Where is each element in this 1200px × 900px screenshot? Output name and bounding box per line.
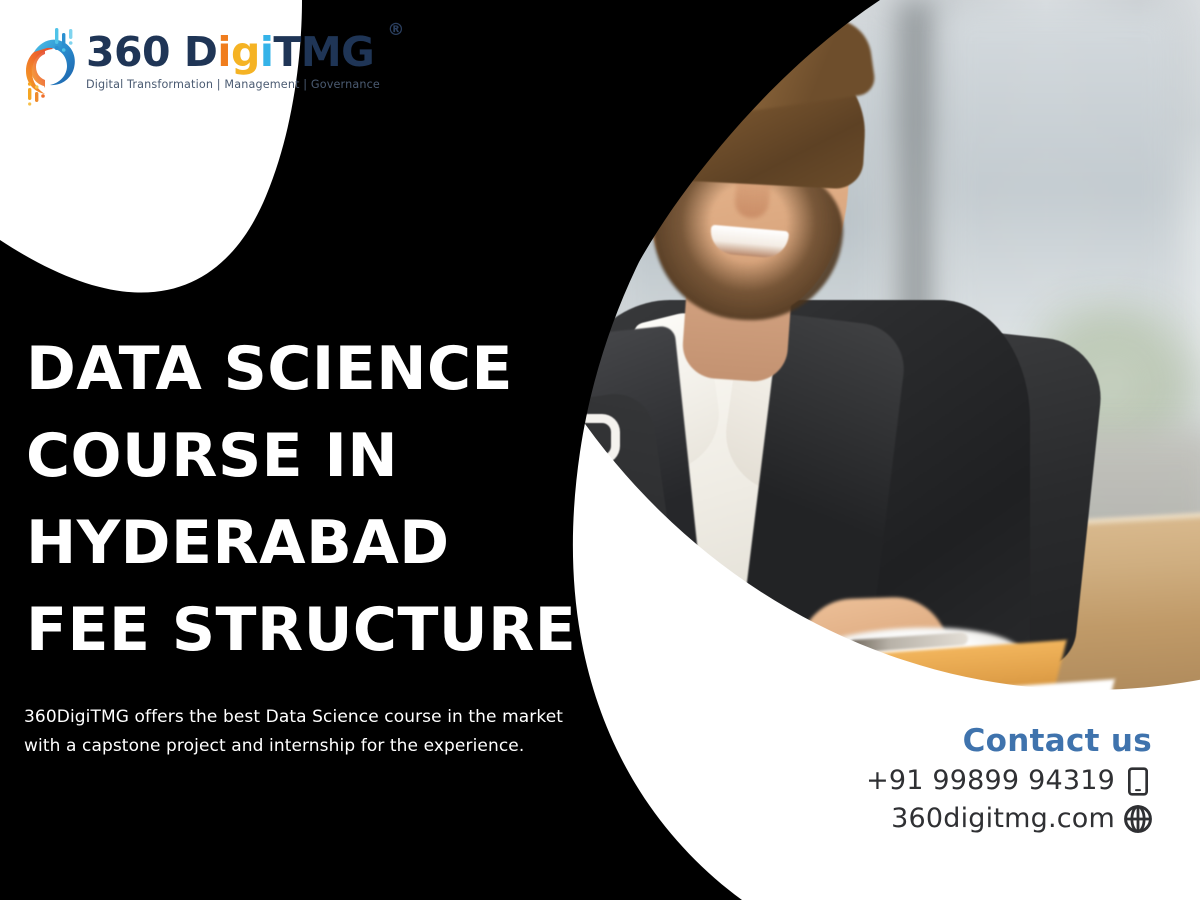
logo-letter-g-amber: g [231,28,260,76]
contact-heading: Contact us [866,722,1152,760]
logo-word-prefix: 360 D [86,28,217,76]
logo-wordmark: 360 DigiTMG® [86,32,380,73]
subtitle: 360DigiTMG offers the best Data Science … [24,703,624,761]
logo-letter-i-cyan: i [260,28,274,76]
headline-line-3: HYDERABAD [26,500,576,587]
contact-block: Contact us +91 99899 94319 360digitmg.co… [866,722,1152,836]
logo-word-suffix: TMG [273,28,374,76]
contact-website-url[interactable]: 360digitmg.com [891,802,1115,836]
logo-text: 360 DigiTMG® Digital Transformation | Ma… [86,26,380,91]
contact-phone-row[interactable]: +91 99899 94319 [866,764,1152,798]
globe-icon [1124,804,1152,834]
page-title: DATA SCIENCE COURSE IN HYDERABAD FEE STR… [26,326,576,674]
headline-line-4: FEE STRUCTURE [26,587,576,674]
brand-logo[interactable]: 360 DigiTMG® Digital Transformation | Ma… [20,26,380,106]
paper-stack [805,679,1114,690]
registered-trademark-icon: ® [387,22,404,39]
promo-banner: 360 DigiTMG® Digital Transformation | Ma… [0,0,1200,900]
contact-website-row[interactable]: 360digitmg.com [866,802,1152,836]
logo-tagline: Digital Transformation | Management | Go… [86,78,380,91]
mobile-phone-icon [1124,766,1152,796]
headline-line-2: COURSE IN [26,413,576,500]
logo-letter-i-orange: i [217,28,231,76]
360digitmg-swirl-logo-icon [20,26,78,106]
subtitle-line-2: with a capstone project and internship f… [24,732,624,761]
headline-line-1: DATA SCIENCE [26,326,576,413]
coffee-cup-handle [576,414,620,464]
subtitle-line-1: 360DigiTMG offers the best Data Science … [24,703,624,732]
contact-phone-number[interactable]: +91 99899 94319 [866,764,1115,798]
